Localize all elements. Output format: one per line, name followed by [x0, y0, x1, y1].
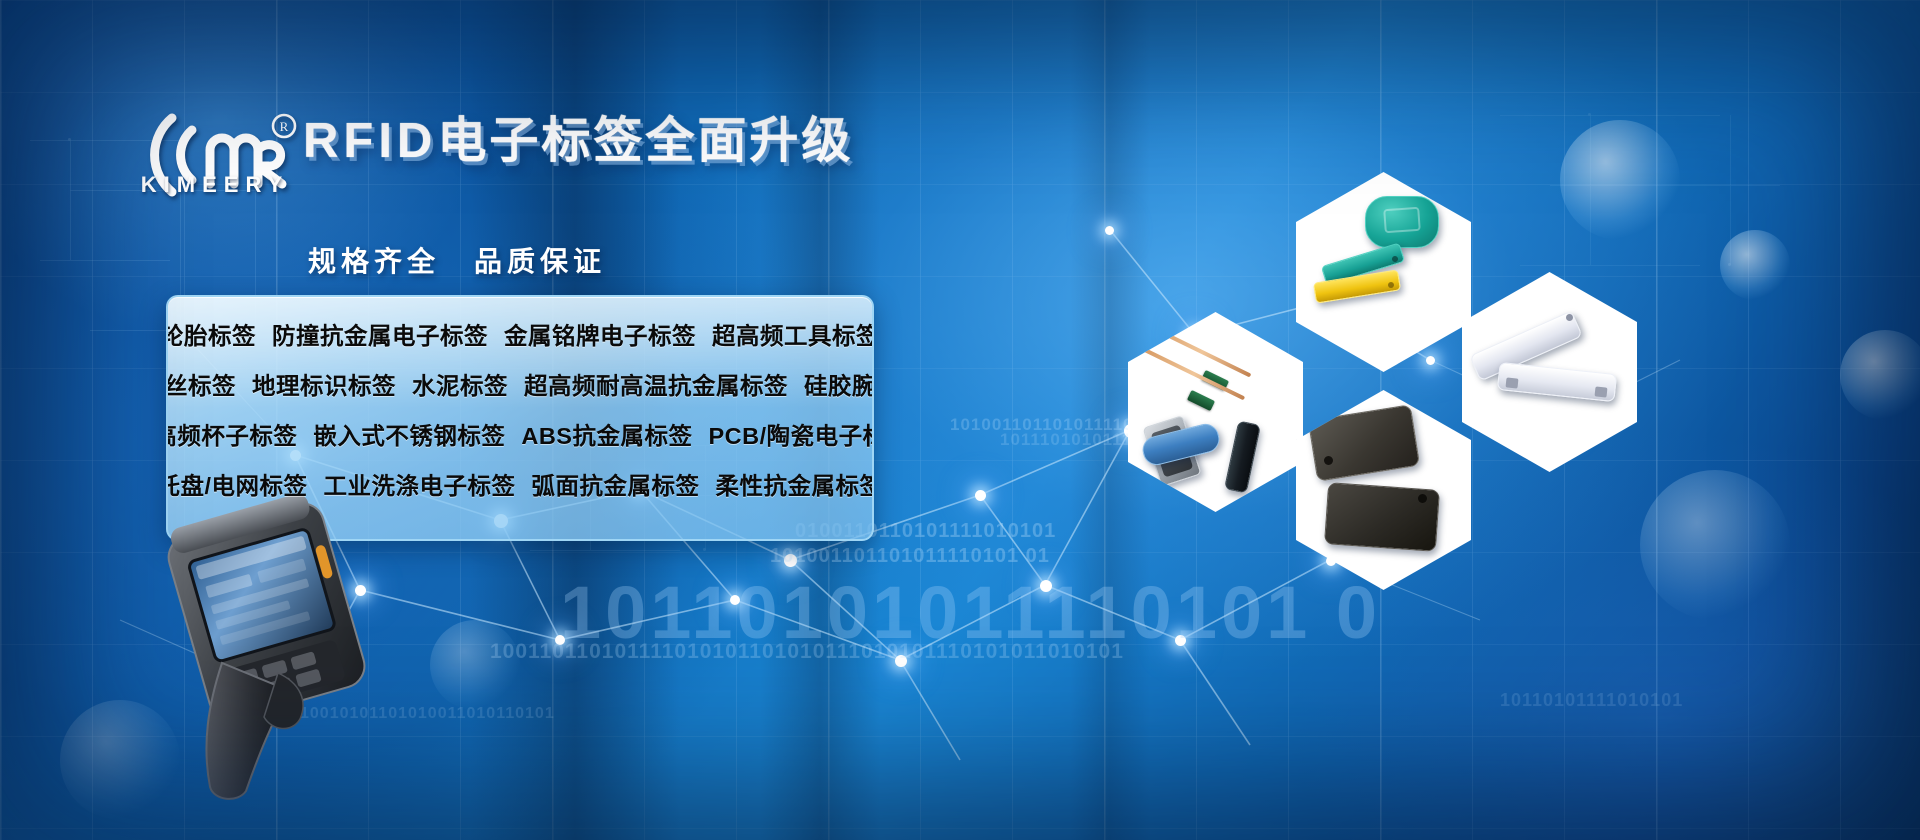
product-item[interactable]: PCB/陶瓷电子标签	[708, 417, 874, 451]
product-item[interactable]: 水泥标签	[412, 367, 508, 401]
black-bar-tag	[1224, 420, 1261, 493]
black-anti-metal-tag-2-hole	[1418, 494, 1427, 503]
binary-overlay-bottom: 1001101101011110101011010101110101011101…	[490, 640, 1124, 664]
product-item[interactable]: 硅胶腕带	[804, 367, 874, 401]
page-subtitle: 规格齐全品质保证	[308, 240, 606, 280]
product-row: 螺丝标签 地理标识标签 水泥标签 超高频耐高温抗金属标签 硅胶腕带	[168, 359, 872, 409]
product-item[interactable]: 托盘/电网标签	[166, 467, 308, 501]
title-en-part: RFID	[303, 114, 437, 168]
product-item[interactable]: 弧面抗金属标签	[532, 467, 700, 501]
bokeh-light	[1560, 120, 1680, 240]
handheld-rfid-reader[interactable]	[150, 495, 410, 805]
product-row: 超高频杯子标签 嵌入式不锈钢标签 ABS抗金属标签 PCB/陶瓷电子标签	[168, 409, 872, 459]
title-cn-part: 电子标签全面升级	[437, 114, 853, 168]
black-anti-metal-tag-1-hole	[1324, 456, 1333, 465]
page-title: RFID电子标签全面升级	[303, 110, 853, 172]
product-item[interactable]: 金属铭牌电子标签	[504, 317, 696, 351]
binary-overlay-2: 101001101101011110101 01	[770, 545, 1050, 568]
binary-overlay-6: 10110101111010101	[1500, 690, 1683, 711]
product-item[interactable]: ABS抗金属标签	[521, 417, 692, 451]
network-node	[1426, 356, 1435, 365]
bokeh-light	[430, 620, 520, 710]
copper-wire-tag-2-chip	[1187, 390, 1215, 411]
product-item[interactable]: 超高频工具标签	[712, 317, 874, 351]
white-flexible-tag-1-hole	[1566, 314, 1573, 321]
product-item[interactable]: 地理标识标签	[252, 367, 396, 401]
product-item[interactable]: 轮胎标签	[166, 317, 256, 351]
product-item[interactable]: 超高频耐高温抗金属标签	[524, 367, 788, 401]
product-item[interactable]: 螺丝标签	[166, 367, 236, 401]
product-item[interactable]: 柔性抗金属标签	[716, 467, 874, 501]
network-node	[1105, 226, 1114, 235]
teal-round-tag-emboss	[1383, 207, 1421, 233]
white-flexible-tag-2-slot-right	[1595, 386, 1608, 397]
product-item[interactable]: 嵌入式不锈钢标签	[313, 417, 505, 451]
subtitle-left: 规格齐全	[308, 246, 440, 277]
subtitle-right: 品质保证	[474, 246, 606, 277]
reader-grip	[206, 663, 303, 799]
product-row: 轮胎标签 防撞抗金属电子标签 金属铭牌电子标签 超高频工具标签	[168, 309, 872, 359]
product-list-panel: 轮胎标签 防撞抗金属电子标签 金属铭牌电子标签 超高频工具标签 螺丝标签 地理标…	[166, 295, 874, 541]
registered-mark-icon: R	[273, 115, 295, 137]
logo-wordmark: KIMEERY	[139, 172, 291, 198]
network-node	[975, 490, 986, 501]
bokeh-light	[1840, 330, 1920, 420]
product-item[interactable]: 防撞抗金属电子标签	[272, 317, 488, 351]
product-item[interactable]: 工业洗涤电子标签	[324, 467, 516, 501]
yellow-bar-tag-hole	[1388, 282, 1394, 288]
product-item[interactable]: 超高频杯子标签	[166, 417, 297, 451]
product-row: 托盘/电网标签 工业洗涤电子标签 弧面抗金属标签 柔性抗金属标签	[168, 459, 872, 509]
bokeh-light	[1720, 230, 1790, 300]
black-anti-metal-tag-2	[1324, 482, 1440, 552]
rfid-promo-banner: 0100110110101111010101 10100110110101111…	[0, 0, 1920, 840]
bokeh-light	[1640, 470, 1790, 620]
svg-text:R: R	[280, 119, 289, 134]
white-flexible-tag-2-slot-left	[1506, 377, 1519, 388]
